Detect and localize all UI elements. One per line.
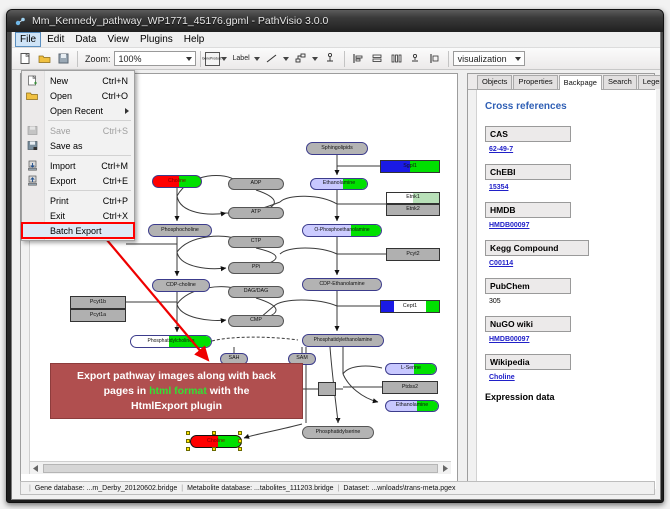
export-icon <box>26 175 38 186</box>
chevron-down-icon[interactable] <box>312 57 318 61</box>
label-tool-label[interactable]: Label <box>233 55 250 62</box>
zoom-label: Zoom: <box>85 54 111 64</box>
node-label: Sphingolipids <box>321 146 353 151</box>
file-menu-dropdown: New Ctrl+N Open Ctrl+O Open Recent <box>21 70 135 241</box>
node-label: Phosphatidylserine <box>316 430 361 435</box>
xref-label-nugo-wiki: NuGO wiki <box>485 316 571 332</box>
nugo-link[interactable]: HMDB00097 <box>489 336 529 343</box>
pathway-node-pemt[interactable] <box>318 382 336 396</box>
menu-item-label: Save <box>50 126 71 136</box>
save-toolbar-icon[interactable] <box>55 50 72 67</box>
pathway-node-pcyt1a[interactable]: Pcyt1a <box>70 309 126 322</box>
toolbar-separator <box>77 51 78 67</box>
scrollbar-thumb[interactable] <box>43 464 438 473</box>
callout-highlight: html format <box>149 385 207 397</box>
pathway-node-ethanolamine-top[interactable]: Ethanolamine <box>310 178 368 190</box>
menu-item-accelerator: Ctrl+S <box>103 126 128 136</box>
pathway-node-ptdss2[interactable]: Ptdss2 <box>382 381 438 394</box>
align-left-icon[interactable] <box>350 50 367 67</box>
status-divider: | <box>181 485 183 492</box>
client-area: File Edit Data View Plugins Help Z <box>11 32 661 500</box>
xref-label-chebi: ChEBI <box>485 164 571 180</box>
callout-line2-suffix: with the <box>207 385 250 397</box>
menu-item-print[interactable]: Print Ctrl+P <box>22 193 134 208</box>
node-label: Ethanolamine <box>396 403 428 408</box>
menu-separator <box>48 190 131 191</box>
open-folder-icon <box>26 90 38 101</box>
chevron-down-icon[interactable] <box>283 57 289 61</box>
pathway-node-phosphatidylethanolamine[interactable]: Phosphatidylethanolamine <box>302 334 384 347</box>
node-label: SAH <box>229 356 240 361</box>
toolbar-separator <box>200 51 201 67</box>
pathway-node-pcyt1b[interactable]: Pcyt1b <box>70 296 126 309</box>
node-label: CDP-Ethanolamine <box>319 282 364 287</box>
pathway-node-pcyt2[interactable]: Pcyt2 <box>386 248 440 261</box>
toolbar-separator <box>448 51 449 67</box>
wikipedia-link[interactable]: Choline <box>489 374 515 381</box>
menu-item-label: New <box>50 76 68 86</box>
callout-line3: HtmlExport plugin <box>131 400 222 412</box>
menu-item-label: Import <box>50 161 76 171</box>
interaction-tool-icon[interactable] <box>293 50 310 67</box>
menu-item-accelerator: Ctrl+X <box>103 211 128 221</box>
callout-line2-prefix: pages in <box>104 385 150 397</box>
annotation-callout: Export pathway images along with back pa… <box>50 363 303 419</box>
pathway-node-cept1[interactable]: Cept1 <box>380 300 440 313</box>
menu-item-accelerator: Ctrl+M <box>101 161 128 171</box>
pathway-node-phosphatidylserine[interactable]: Phosphatidylserine <box>302 426 374 439</box>
menu-edit[interactable]: Edit <box>42 32 69 47</box>
menu-file[interactable]: File <box>15 32 41 47</box>
import-icon <box>26 160 38 171</box>
node-fill-left <box>381 301 394 312</box>
menu-plugins[interactable]: Plugins <box>135 32 178 47</box>
backpage-content: Cross references CAS 62-49-7 ChEBI 15354… <box>477 90 656 489</box>
window-title: Mm_Kennedy_pathway_WP1771_45176.gpml - P… <box>32 15 328 27</box>
xref-value-nugo-wiki: HMDB00097 <box>489 336 648 343</box>
node-label: PPi <box>252 265 260 270</box>
xref-value-kegg-compound: C00114 <box>489 260 648 267</box>
menu-item-label: Open <box>50 91 72 101</box>
zoom-value: 100% <box>119 54 142 64</box>
xref-value-wikipedia: Choline <box>489 374 648 381</box>
chebi-link[interactable]: 15354 <box>489 184 508 191</box>
menu-item-accelerator: Ctrl+O <box>102 91 128 101</box>
menu-item-label: Export <box>50 176 76 186</box>
callout-line1: Export pathway images along with back <box>77 370 276 382</box>
node-label: Etnk1 <box>406 195 420 200</box>
node-label: Pcyt2 <box>406 252 419 257</box>
menu-view[interactable]: View <box>102 32 134 47</box>
zoom-combobox[interactable]: 100% <box>114 51 196 66</box>
menu-item-label: Save as <box>50 141 83 151</box>
scroll-right-icon <box>440 464 449 473</box>
node-label: SAM <box>296 356 307 361</box>
save-as-icon <box>26 140 38 151</box>
new-toolbar-icon[interactable] <box>17 50 34 67</box>
pathway-node-cmp[interactable]: CMP <box>228 315 284 327</box>
chevron-down-icon[interactable] <box>221 57 227 61</box>
hmdb-link[interactable]: HMDB00097 <box>489 222 529 229</box>
menu-help[interactable]: Help <box>179 32 210 47</box>
xref-label-kegg-compound: Kegg Compound <box>485 240 589 256</box>
stack-icon[interactable] <box>407 50 424 67</box>
xref-value-chebi: 15354 <box>489 184 648 191</box>
tab-backpage[interactable]: Backpage <box>559 75 602 90</box>
menu-data[interactable]: Data <box>70 32 101 47</box>
status-metabolite-database: Metabolite database: ...tabolites_111203… <box>187 485 333 492</box>
submenu-arrow-icon <box>125 108 129 114</box>
expression-data-heading: Expression data <box>485 392 648 402</box>
pathway-node-ethanolamine-bottom[interactable]: Ethanolamine <box>385 400 439 412</box>
menu-item-accelerator: Ctrl+N <box>102 76 128 86</box>
backpage-side-panel: Objects Properties Backpage Search Legen… <box>467 73 655 488</box>
node-label: Cept1 <box>403 304 417 309</box>
xref-label-pubchem: PubChem <box>485 278 571 294</box>
cas-link[interactable]: 62-49-7 <box>489 146 513 153</box>
xref-value-hmdb: HMDB00097 <box>489 222 648 229</box>
screenshot-root: Mm_Kennedy_pathway_WP1771_45176.gpml - P… <box>0 0 670 509</box>
visualization-value: visualization <box>458 54 507 64</box>
tab-search[interactable]: Search <box>603 75 637 89</box>
node-label: CTP <box>251 239 262 244</box>
tab-properties[interactable]: Properties <box>513 75 557 89</box>
pathway-node-etnk1[interactable]: Etnk1 <box>386 192 440 204</box>
save-disk-icon <box>26 125 38 136</box>
line-tool-icon[interactable] <box>264 50 281 67</box>
title-bar: Mm_Kennedy_pathway_WP1771_45176.gpml - P… <box>7 10 663 32</box>
pathway-node-phosphocholine[interactable]: Phosphocholine <box>148 224 212 237</box>
menu-item-exit[interactable]: Exit Ctrl+X <box>22 208 134 223</box>
pathway-node-choline-selected[interactable]: Choline <box>190 435 242 448</box>
pathvisio-icon <box>14 15 27 28</box>
chevron-down-icon[interactable] <box>254 57 260 61</box>
menu-item-open[interactable]: Open Ctrl+O <box>22 88 134 103</box>
node-label: ATP <box>251 210 261 215</box>
tab-objects[interactable]: Objects <box>477 75 512 89</box>
node-label: Ethanolamine <box>323 181 355 186</box>
node-fill-right <box>426 301 439 312</box>
pathway-node-o-phosphoethanolamine[interactable]: O-Phosphoethanolamine <box>302 224 382 237</box>
canvas-horizontal-scrollbar[interactable] <box>30 461 451 474</box>
menu-item-label: Open Recent <box>50 106 103 116</box>
pathway-node-dag[interactable]: DAG/DAG <box>228 286 284 298</box>
pathway-node-adp[interactable]: ADP <box>228 178 284 190</box>
toolbar-separator <box>344 51 345 67</box>
node-label: Pcyt1b <box>90 300 106 305</box>
node-label: Phosphocholine <box>161 228 199 233</box>
status-divider: | <box>338 485 340 492</box>
node-label: Ptdss2 <box>402 385 418 390</box>
pathway-node-ctp[interactable]: CTP <box>228 236 284 248</box>
xref-label-wikipedia: Wikipedia <box>485 354 571 370</box>
visualization-combobox[interactable]: visualization <box>453 51 525 66</box>
chevron-down-icon <box>186 57 192 61</box>
menu-item-open-recent[interactable]: Open Recent <box>22 103 134 118</box>
pathway-node-sgpl1[interactable]: Sgpl1 <box>380 160 440 173</box>
status-gene-database: Gene database: ...m_Derby_20120602.bridg… <box>35 485 177 492</box>
pathway-node-ppi[interactable]: PPi <box>228 262 284 274</box>
xref-label-cas: CAS <box>485 126 571 142</box>
node-label: CMP <box>250 318 262 323</box>
toolbar: Zoom: 100% GeneProduct Label <box>12 48 660 70</box>
chevron-down-icon <box>515 57 521 61</box>
pathway-node-atp[interactable]: ATP <box>228 207 284 219</box>
node-label: DAG/DAG <box>244 289 268 294</box>
open-toolbar-icon[interactable] <box>36 50 53 67</box>
menu-item-save-as[interactable]: Save as <box>22 138 134 153</box>
menu-separator <box>48 155 131 156</box>
menu-item-new[interactable]: New Ctrl+N <box>22 73 134 88</box>
node-label: O-Phosphoethanolamine <box>314 228 369 233</box>
tab-legend[interactable]: Legend <box>638 75 661 89</box>
side-panel-gutter[interactable] <box>468 90 477 489</box>
node-label: Phosphatidylcholines <box>148 339 195 344</box>
status-bar: | Gene database: ...m_Derby_20120602.bri… <box>20 481 655 495</box>
align-center-icon[interactable] <box>369 50 386 67</box>
node-label: CDP-choline <box>166 283 196 288</box>
new-document-icon <box>26 75 38 86</box>
node-label: Choline <box>207 439 225 444</box>
pathway-node-phosphatidylcholines[interactable]: Phosphatidylcholines <box>130 335 212 348</box>
kegg-link[interactable]: C00114 <box>489 260 513 267</box>
pathway-node-choline-top[interactable]: Choline <box>152 175 202 188</box>
node-label: Phosphatidylethanolamine <box>314 338 373 343</box>
distribute-icon[interactable] <box>388 50 405 67</box>
menu-item-label: Exit <box>50 211 65 221</box>
menu-item-label: Print <box>50 196 69 206</box>
pathway-node-cdp-ethanolamine[interactable]: CDP-Ethanolamine <box>302 278 382 291</box>
pathway-node-l-serine[interactable]: L-Serine <box>385 363 437 375</box>
menu-item-accelerator: Ctrl+E <box>103 176 128 186</box>
pathway-node-etnk2[interactable]: Etnk2 <box>386 204 440 216</box>
node-label: Etnk2 <box>406 207 420 212</box>
application-window: Mm_Kennedy_pathway_WP1771_45176.gpml - P… <box>6 9 664 503</box>
menu-item-save: Save Ctrl+S <box>22 123 134 138</box>
menu-separator <box>48 120 131 121</box>
status-dataset: Dataset: ...wnloads\trans-meta.pgex <box>343 485 455 492</box>
node-label: Choline <box>168 179 186 184</box>
menu-item-batch-export[interactable]: Batch Export <box>22 223 134 238</box>
pathway-node-cdp-choline[interactable]: CDP-choline <box>152 279 210 292</box>
xref-value-pubchem: 305 <box>489 298 648 305</box>
side-panel-tabs: Objects Properties Backpage Search Legen… <box>468 74 654 90</box>
node-label: Pcyt1a <box>90 313 106 318</box>
group-icon[interactable] <box>426 50 443 67</box>
xref-label-hmdb: HMDB <box>485 202 571 218</box>
menu-item-export[interactable]: Export Ctrl+E <box>22 173 134 188</box>
menu-item-accelerator: Ctrl+P <box>103 196 128 206</box>
menu-item-import[interactable]: Import Ctrl+M <box>22 158 134 173</box>
menu-item-label: Batch Export <box>50 226 102 236</box>
node-label: L-Serine <box>401 366 421 371</box>
node-label: ADP <box>251 181 262 186</box>
anchor-tool-icon[interactable] <box>322 50 339 67</box>
xref-value-cas: 62-49-7 <box>489 146 648 153</box>
genenproduct-tool-label: GeneProduct <box>202 57 221 60</box>
scroll-left-icon <box>32 464 41 473</box>
genenproduct-tool-icon[interactable]: GeneProduct <box>205 52 220 66</box>
cross-references-heading: Cross references <box>485 101 648 112</box>
node-label: Sgpl1 <box>403 164 417 169</box>
pubchem-value: 305 <box>489 298 501 305</box>
pathway-node-sphingolipids[interactable]: Sphingolipids <box>306 142 368 155</box>
status-divider: | <box>29 485 31 492</box>
menu-bar: File Edit Data View Plugins Help <box>12 32 660 48</box>
